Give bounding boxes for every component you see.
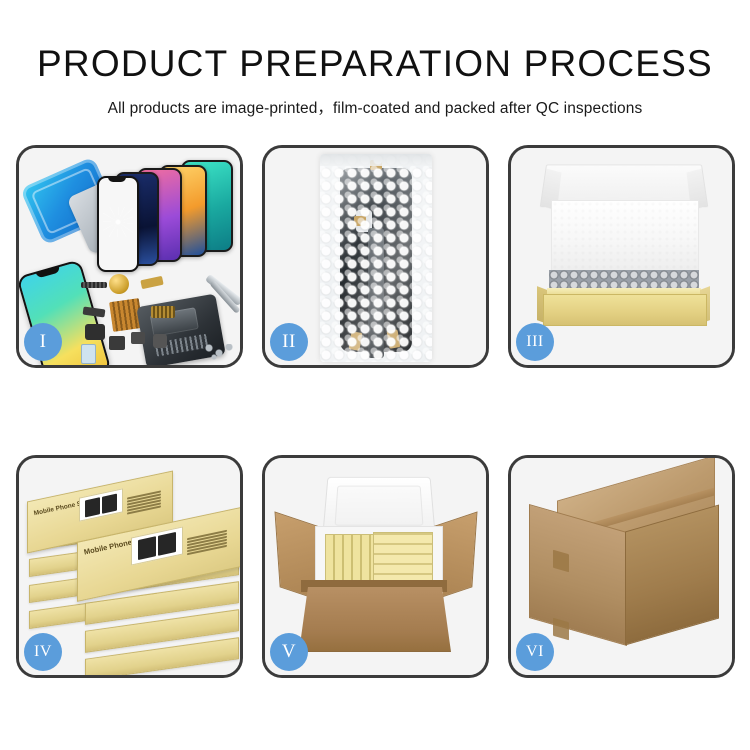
step-number-badge-1: I (24, 323, 62, 361)
box-front-panel (543, 294, 707, 326)
process-step-panel-1[interactable]: I (16, 145, 243, 368)
camera-module (85, 324, 105, 340)
plastic-sheen (320, 154, 432, 362)
phone-screen-fan (97, 160, 240, 278)
carton-with-foam-box (277, 474, 475, 666)
gold-contact-strip (151, 306, 175, 318)
page-title: PRODUCT PREPARATION PROCESS (0, 0, 750, 84)
sealed-shipping-carton (529, 474, 719, 664)
step-number-badge-3: III (516, 323, 554, 361)
screws-group (205, 344, 235, 360)
step-number-badge-4: IV (24, 633, 62, 671)
vibration-motor (131, 332, 145, 344)
window-phone-thumb (85, 497, 100, 517)
carton-front-panel (299, 586, 451, 652)
window-phone-thumb (138, 536, 156, 560)
connector-strip (81, 282, 107, 288)
process-step-panel-2[interactable]: II (262, 145, 489, 368)
window-phone-thumb (102, 493, 117, 513)
process-step-panel-3[interactable]: III (508, 145, 735, 368)
speaker-module (109, 336, 125, 350)
charging-port (153, 334, 167, 348)
gold-component-disc (109, 274, 129, 294)
process-step-panel-4[interactable]: Mobile Phone Spare Parts Mobile Phone Sp… (16, 455, 243, 678)
white-foam-sheet (551, 200, 699, 274)
step-number-badge-2: II (270, 323, 308, 361)
carton-tape-lower (553, 618, 569, 641)
phone-screen-white (97, 176, 139, 272)
window-phone-thumb (158, 532, 176, 556)
page-header: PRODUCT PREPARATION PROCESS All products… (0, 0, 750, 130)
bag-top-fold (320, 154, 432, 166)
bubble-wrap-bag (320, 154, 432, 362)
process-step-panel-5[interactable]: V (262, 455, 489, 678)
step-number-badge-5: V (270, 633, 308, 671)
process-step-grid: I II (0, 145, 750, 685)
foam-lined-inner-box (537, 162, 712, 352)
step-number-badge-6: VI (516, 633, 554, 671)
sim-tray (81, 344, 96, 364)
page-subtitle: All products are image-printed，film-coat… (0, 84, 750, 118)
process-step-panel-6[interactable]: VI (508, 455, 735, 678)
packed-units-stack (373, 532, 433, 584)
screen-crack-pattern (103, 207, 133, 237)
